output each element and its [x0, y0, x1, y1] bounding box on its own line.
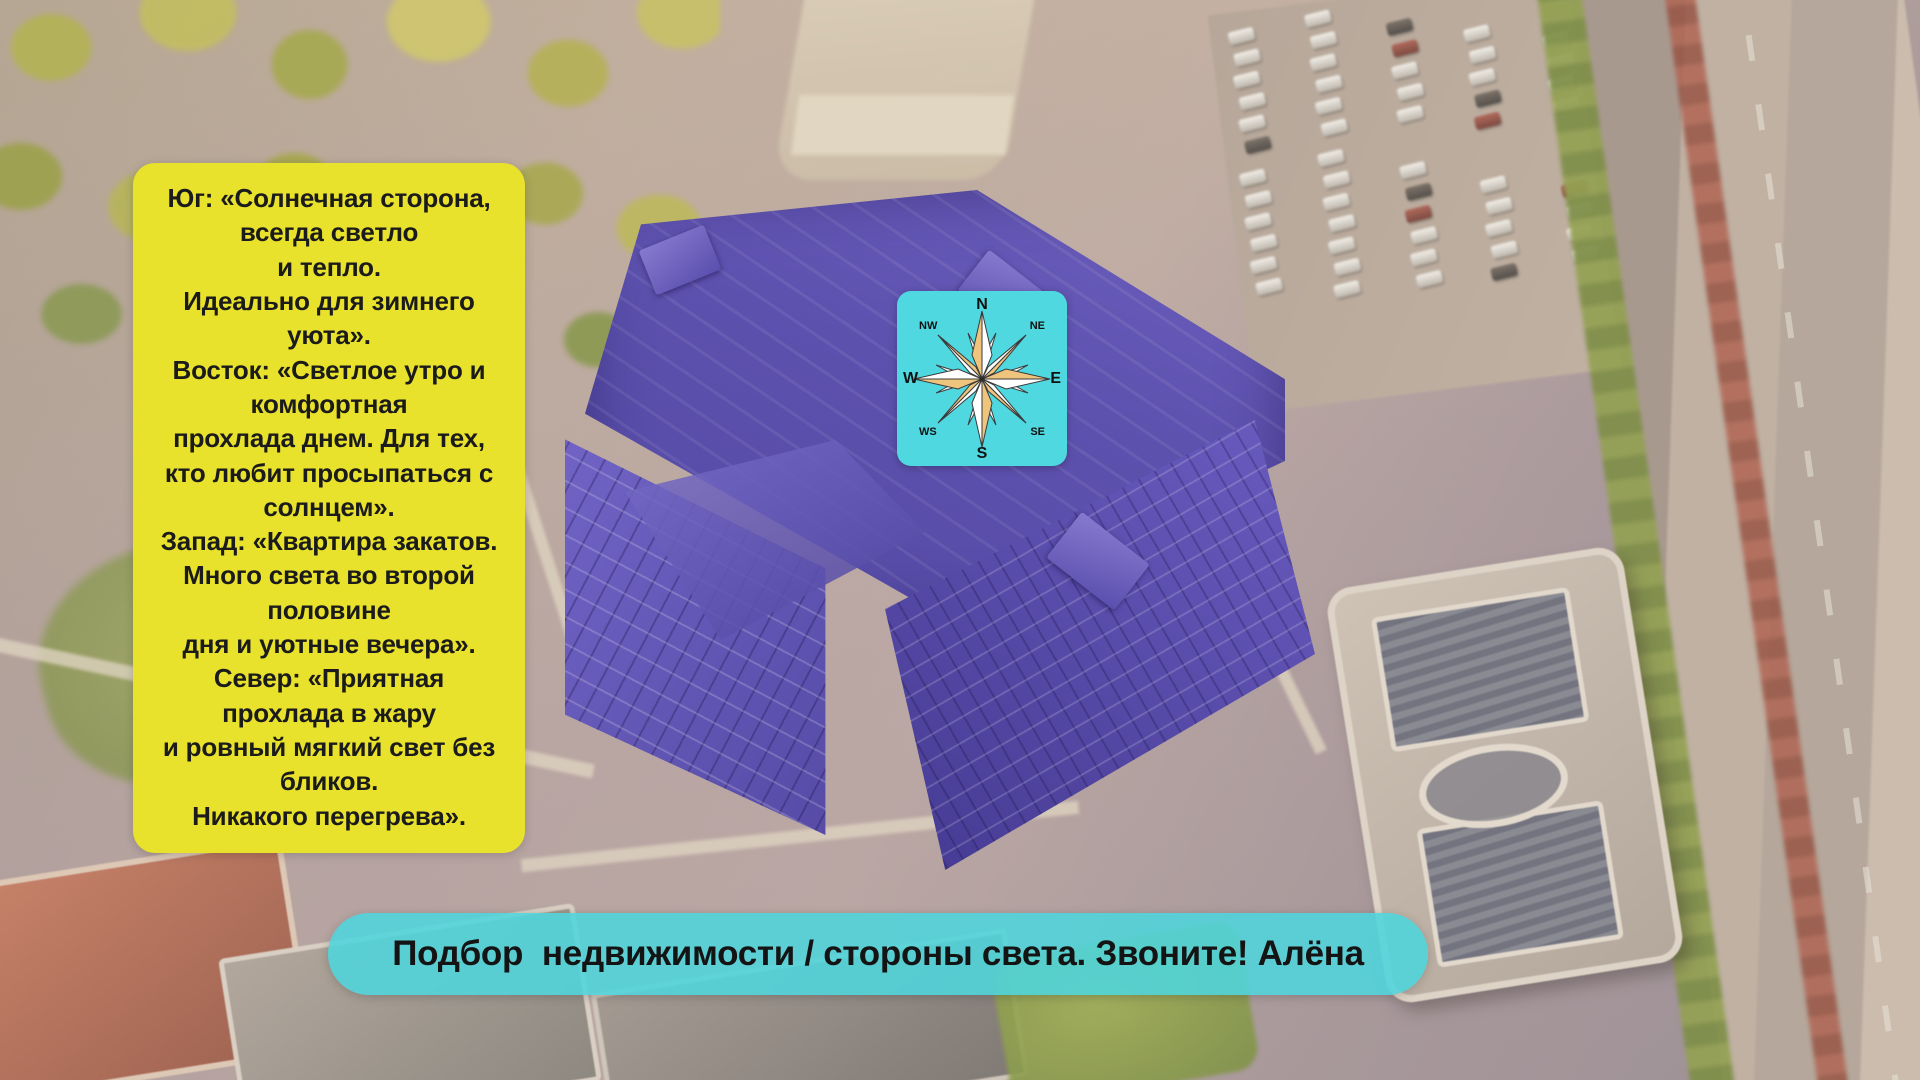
parked-car [1404, 204, 1432, 223]
parked-car [1468, 45, 1496, 64]
parked-car [1233, 70, 1261, 89]
parked-car [1333, 258, 1361, 277]
parked-car [1410, 248, 1438, 267]
advice-line: бликов. [147, 764, 511, 798]
parked-car [1238, 92, 1266, 111]
parked-car [1238, 114, 1266, 133]
advice-line: дня и уютные вечера». [147, 627, 511, 661]
parked-car [1396, 105, 1424, 124]
compass-label-northeast: NE [1030, 321, 1045, 332]
advice-line: уюта». [147, 318, 511, 352]
advice-line: Идеально для зимнего [147, 284, 511, 318]
advice-line: Восток: «Светлое утро и [147, 353, 511, 387]
parked-car [1399, 161, 1427, 180]
parked-car [1396, 83, 1424, 102]
parked-car [1309, 53, 1337, 72]
advice-line: Никакого перегрева». [147, 799, 511, 833]
parked-car [1320, 118, 1348, 137]
advice-line: половине [147, 593, 511, 627]
parked-car [1322, 192, 1350, 211]
parked-car [1485, 219, 1513, 238]
highlighted-building [585, 190, 1285, 830]
parked-car [1468, 68, 1496, 87]
compass-label-south: S [977, 446, 988, 462]
parked-car [1333, 280, 1361, 299]
parked-car [1227, 27, 1255, 46]
parked-car [1322, 170, 1350, 189]
parked-car [1474, 89, 1502, 108]
parked-car [1463, 24, 1491, 43]
parked-car [1385, 17, 1413, 36]
building-courtyard [1371, 587, 1590, 753]
compass-label-north: N [976, 297, 988, 313]
orientation-advice-card: Юг: «Солнечная сторона,всегда светлои те… [133, 163, 525, 853]
advice-line: прохлада в жару [147, 696, 511, 730]
parked-car [1317, 149, 1345, 168]
compass-label-west: W [903, 371, 918, 387]
compass-label-northwest: NW [919, 321, 937, 332]
parked-car [1405, 182, 1433, 201]
parked-car [1239, 168, 1267, 187]
parked-car [1328, 236, 1356, 255]
parked-car [1410, 226, 1438, 245]
compass-rose-icon [897, 291, 1067, 466]
parked-car [1485, 197, 1513, 216]
pedestrian-path-top-secondary [791, 95, 1014, 155]
advice-line: кто любит просыпаться с [147, 456, 511, 490]
contact-banner[interactable]: Подбор недвижимости / стороны света. Зво… [328, 913, 1428, 995]
advice-line: прохлада днем. Для тех, [147, 421, 511, 455]
compass-rose: N S W E NW NE WS SE [897, 291, 1067, 466]
advice-line: Много света во второй [147, 558, 511, 592]
advice-line: Запад: «Квартира закатов. [147, 524, 511, 558]
contact-banner-text: Подбор недвижимости / стороны света. Зво… [392, 934, 1364, 974]
advice-line: комфортная [147, 387, 511, 421]
parked-car [1309, 31, 1337, 50]
parked-car [1490, 262, 1518, 281]
parked-car [1315, 74, 1343, 93]
parked-car [1490, 240, 1518, 259]
parked-car [1244, 136, 1272, 155]
parked-car [1479, 175, 1507, 194]
parked-car [1391, 61, 1419, 80]
building-courtyard [1416, 800, 1624, 968]
parked-car [1328, 214, 1356, 233]
advice-line: и тепло. [147, 250, 511, 284]
parked-car [1304, 9, 1332, 28]
compass-label-westsouth: WS [919, 427, 937, 438]
parked-car [1233, 48, 1261, 67]
compass-label-southeast: SE [1030, 427, 1045, 438]
parked-car [1391, 39, 1419, 58]
advice-line: и ровный мягкий свет без [147, 730, 511, 764]
advice-line: всегда светло [147, 215, 511, 249]
parked-car [1314, 97, 1342, 116]
compass-label-east: E [1050, 371, 1061, 387]
parked-car [1473, 111, 1501, 130]
advice-line: Юг: «Солнечная сторона, [147, 181, 511, 215]
advice-line: Север: «Приятная [147, 661, 511, 695]
screenshot-canvas: N S W E NW NE WS SE Юг: «Солнечная сторо… [0, 0, 1920, 1080]
advice-line: солнцем». [147, 490, 511, 524]
parked-car [1415, 270, 1443, 289]
